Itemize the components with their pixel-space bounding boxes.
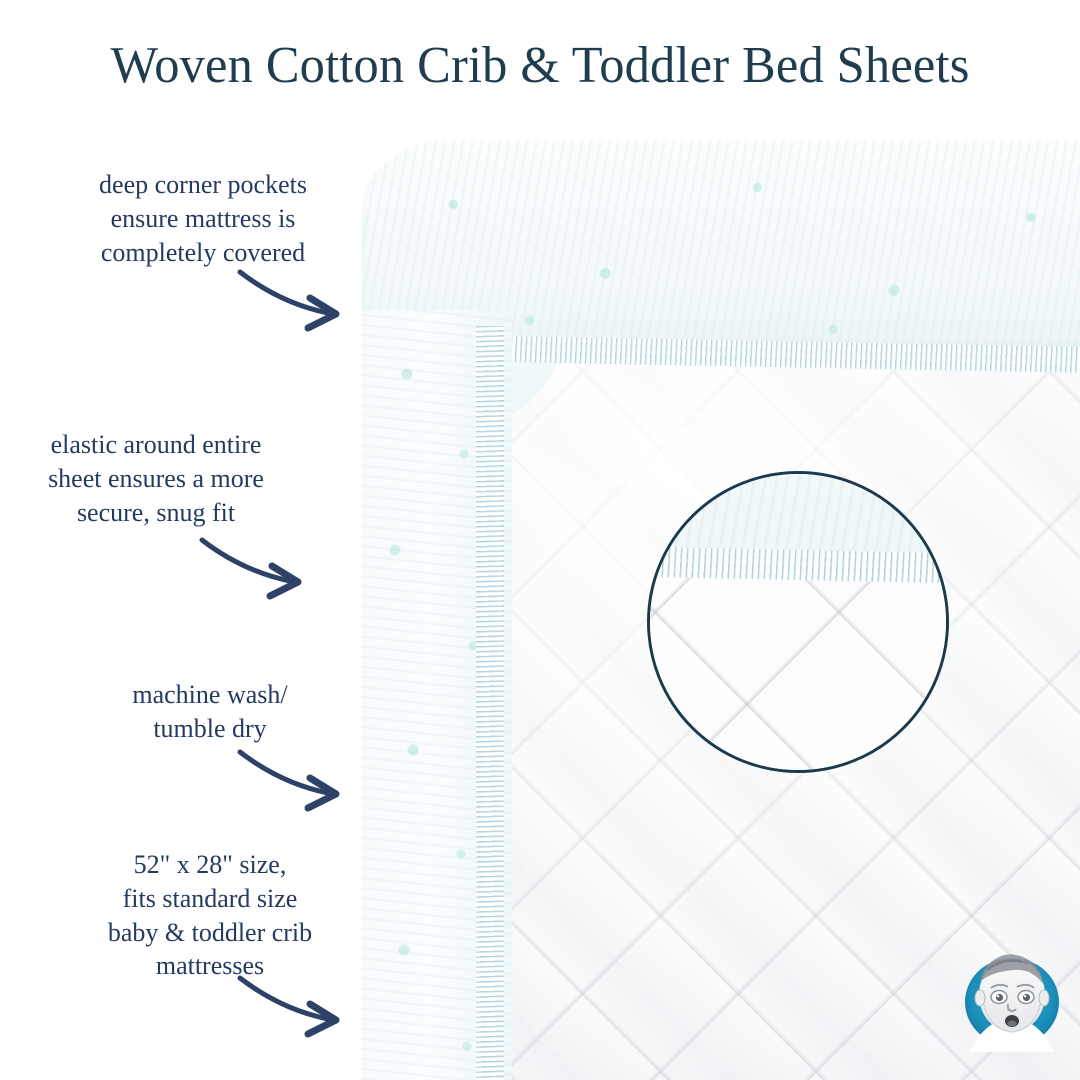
- gerber-baby-logo: [960, 948, 1064, 1054]
- product-image: [336, 130, 1080, 1080]
- gerber-baby-logo-icon: [960, 948, 1064, 1054]
- magnifier-content: [647, 471, 949, 773]
- curved-arrow-icon-2: [198, 530, 328, 610]
- callout-machine-wash: machine wash/ tumble dry: [60, 678, 360, 746]
- callout-deep-corner-pockets: deep corner pockets ensure mattress is c…: [38, 168, 368, 269]
- callout-size: 52" x 28" size, fits standard size baby …: [50, 848, 370, 983]
- sheet-elastic-hem-left: [476, 326, 504, 1080]
- page-title: Woven Cotton Crib & Toddler Bed Sheets: [16, 36, 1064, 96]
- magnifier-circle: [647, 471, 949, 773]
- callout-elastic-around-sheet: elastic around entire sheet ensures a mo…: [0, 428, 312, 529]
- infographic-canvas: Woven Cotton Crib & Toddler Bed Sheets d…: [0, 0, 1080, 1080]
